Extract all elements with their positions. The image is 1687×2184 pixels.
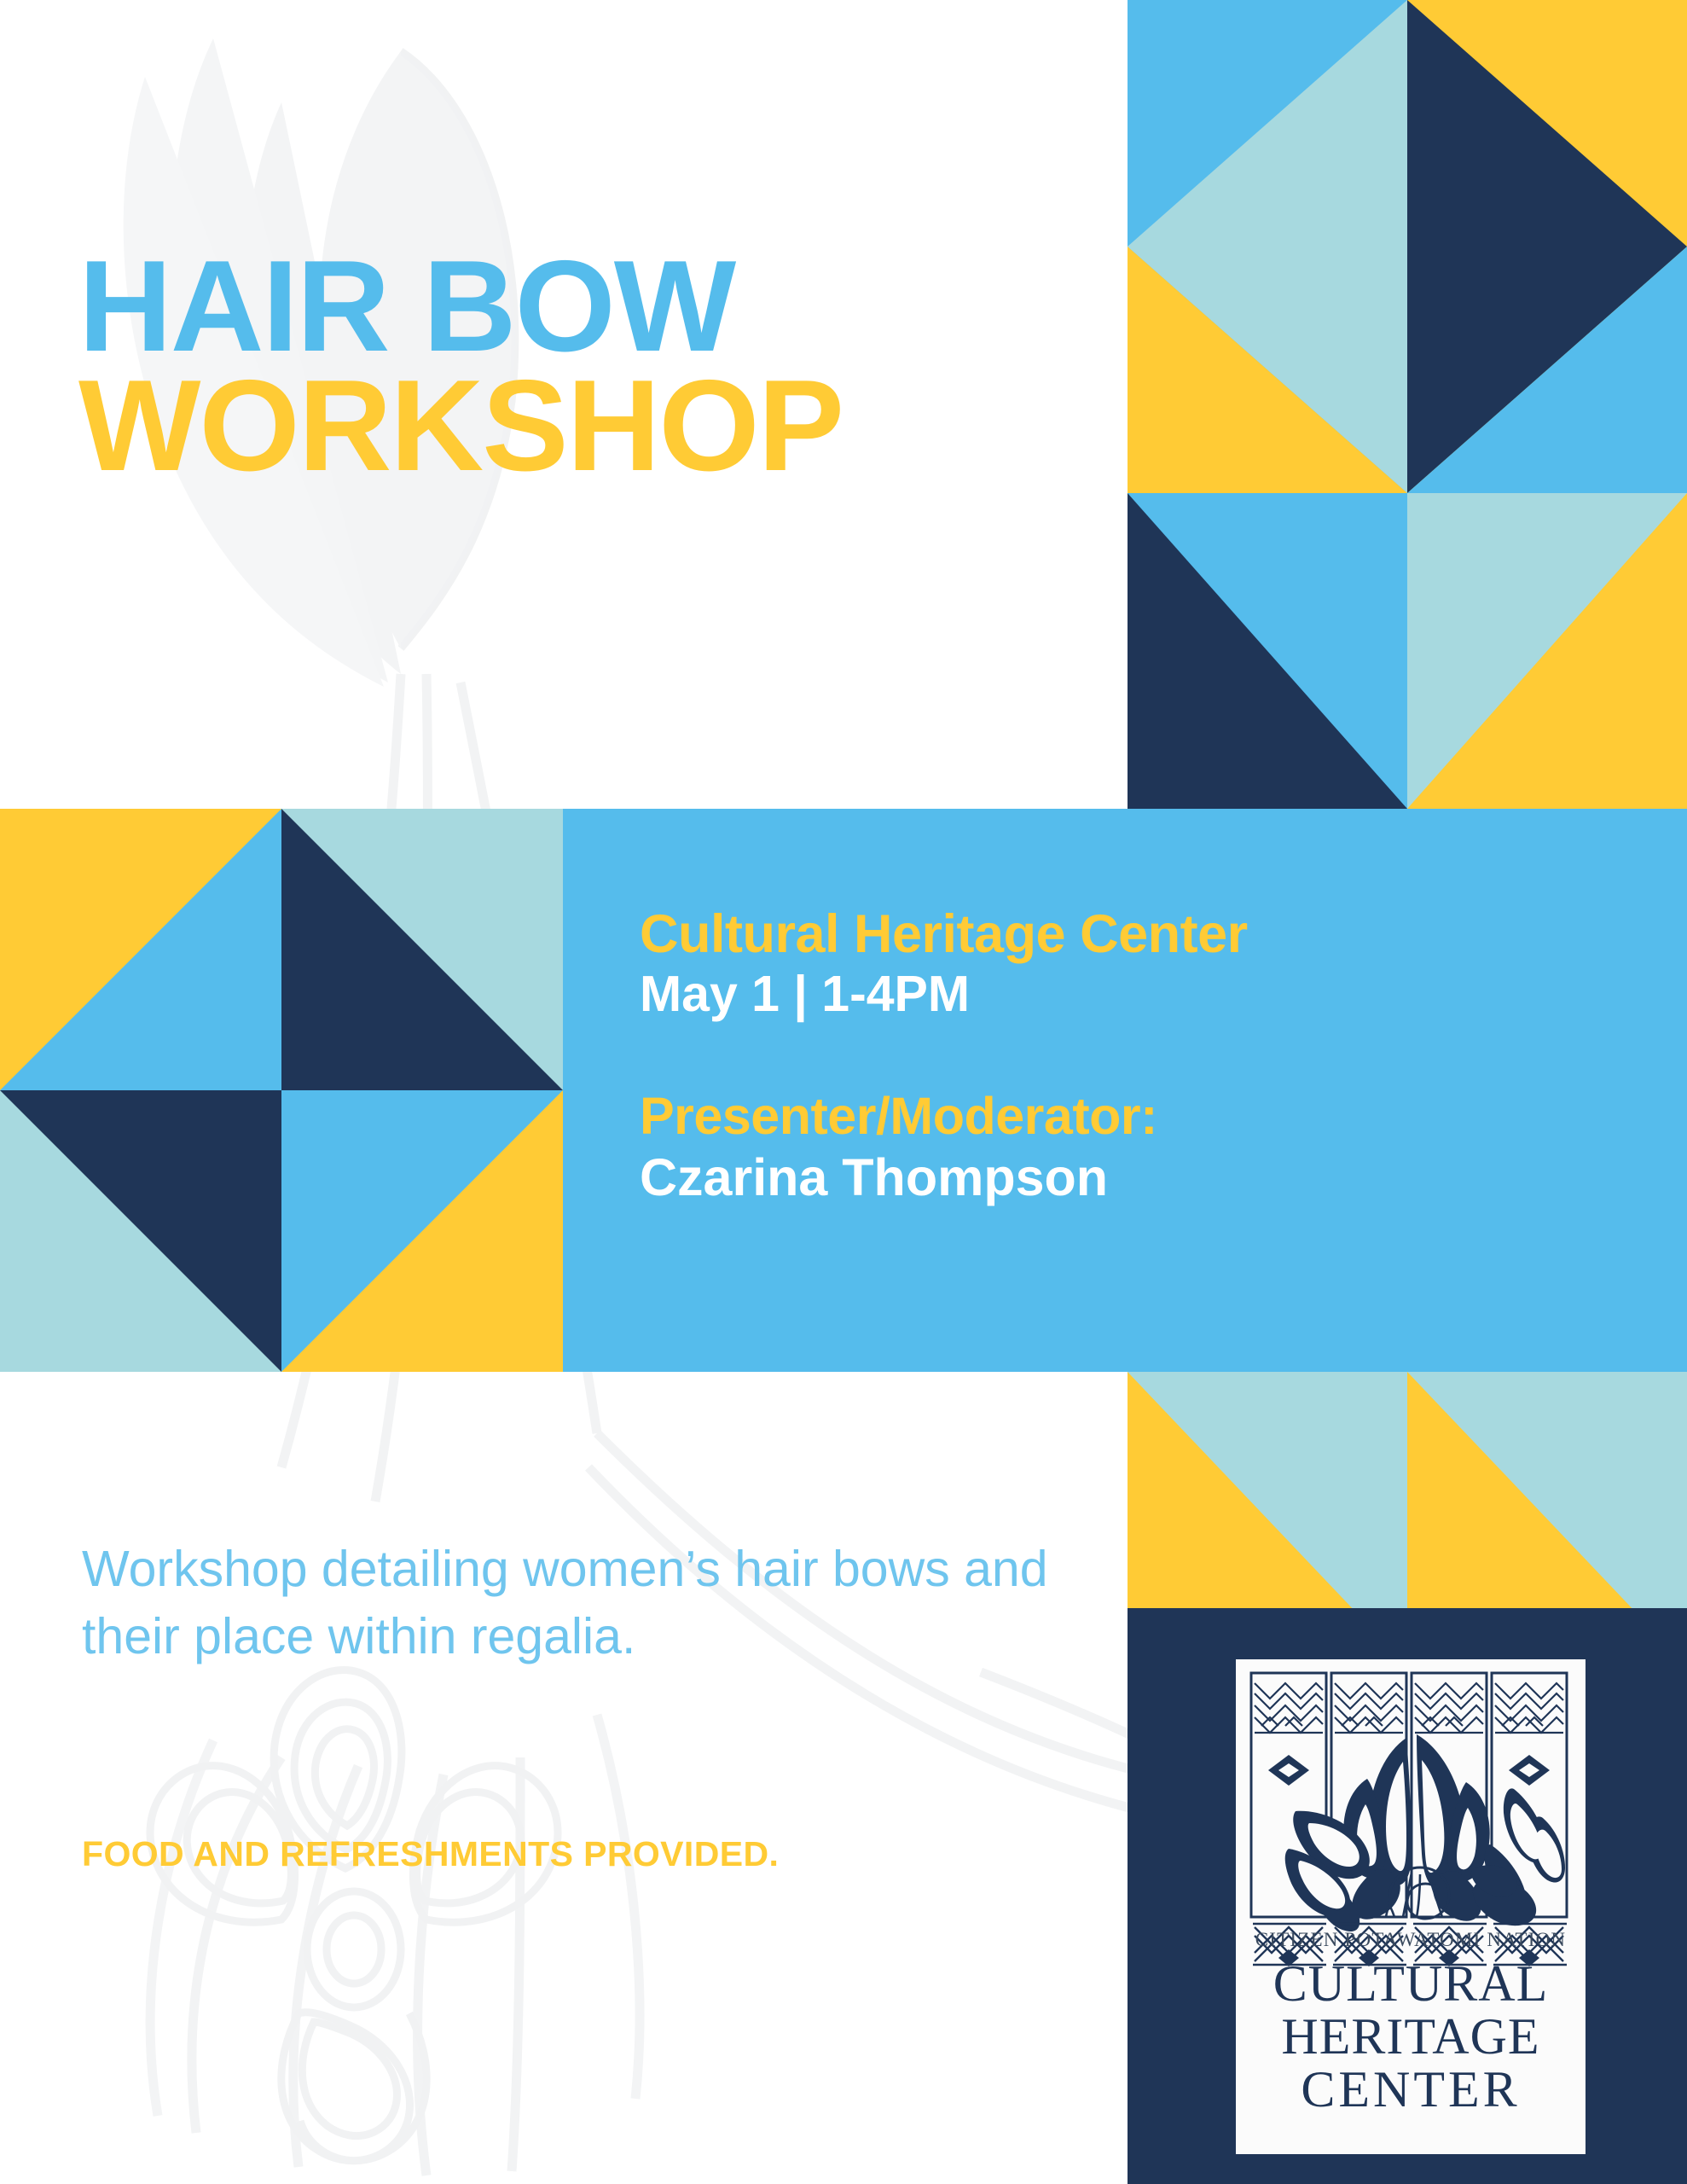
logo-name-line2: HERITAGE (1281, 2008, 1539, 2065)
logo-organization-text: CITIZEN POTAWATOMI NATION (1255, 1929, 1566, 1950)
event-details-band: Cultural Heritage Center May 1 | 1-4PM P… (0, 809, 1687, 1372)
event-datetime: May 1 | 1-4PM (640, 965, 1578, 1025)
food-note: FOOD AND REFRESHMENTS PROVIDED. (82, 1834, 779, 1874)
title-line-1: HAIR BOW (78, 247, 843, 367)
title-line-2: WORKSHOP (78, 367, 843, 486)
logo-name-line1: CULTURAL (1273, 1955, 1548, 2012)
presenter-role-label: Presenter/Moderator: (640, 1087, 1578, 1145)
event-info-text: Cultural Heritage Center May 1 | 1-4PM P… (640, 904, 1578, 1211)
event-venue: Cultural Heritage Center (640, 904, 1578, 965)
logo-card: CITIZEN POTAWATOMI NATION CULTURAL HERIT… (1236, 1659, 1586, 2154)
logo-block: CITIZEN POTAWATOMI NATION CULTURAL HERIT… (1128, 1608, 1687, 2184)
page-title: HAIR BOW WORKSHOP (78, 247, 843, 486)
cultural-heritage-center-logo: CITIZEN POTAWATOMI NATION CULTURAL HERIT… (1236, 1659, 1586, 2154)
presenter-name: Czarina Thompson (640, 1145, 1578, 1210)
poster-canvas: HAIR BOW WORKSHOP Cultural Heritage Cent… (0, 0, 1687, 2184)
logo-name-line3: CENTER (1301, 2061, 1520, 2117)
quilt-pattern-top-right (1128, 0, 1687, 809)
quilt-pattern-band-left (0, 809, 563, 1372)
workshop-description: Workshop detailing women’s hair bows and… (82, 1536, 1071, 1670)
